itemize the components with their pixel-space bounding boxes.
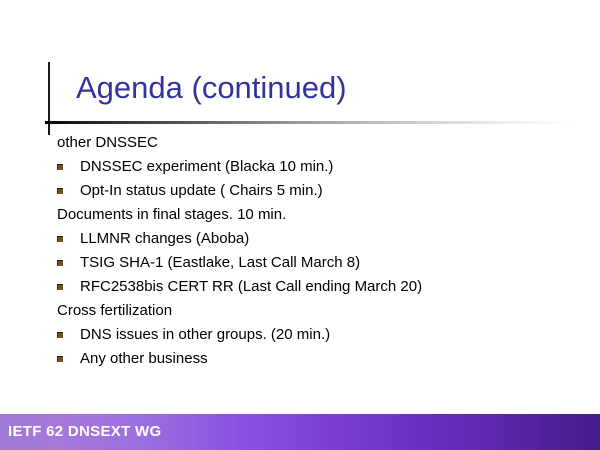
square-bullet-icon xyxy=(57,164,63,170)
list-item: Cross fertilization xyxy=(0,299,600,323)
list-item: DNSSEC experiment (Blacka 10 min.) xyxy=(0,155,600,179)
list-item-label: DNS issues in other groups. (20 min.) xyxy=(80,326,330,343)
title-vertical-rule xyxy=(48,62,50,135)
list-item-label: other DNSSEC xyxy=(57,134,158,151)
title-horizontal-rule xyxy=(45,121,575,124)
list-item: RFC2538bis CERT RR (Last Call ending Mar… xyxy=(0,275,600,299)
footer-bar: IETF 62 DNSEXT WG xyxy=(0,414,600,450)
square-bullet-icon xyxy=(57,188,63,194)
list-item: DNS issues in other groups. (20 min.) xyxy=(0,323,600,347)
list-item: TSIG SHA-1 (Eastlake, Last Call March 8) xyxy=(0,251,600,275)
list-item: Documents in final stages. 10 min. xyxy=(0,203,600,227)
agenda-list: other DNSSECDNSSEC experiment (Blacka 10… xyxy=(0,131,600,371)
list-item-label: RFC2538bis CERT RR (Last Call ending Mar… xyxy=(80,278,422,295)
footer-label: IETF 62 DNSEXT WG xyxy=(8,423,161,440)
square-bullet-icon xyxy=(57,236,63,242)
list-item-label: TSIG SHA-1 (Eastlake, Last Call March 8) xyxy=(80,254,360,271)
list-item-label: Documents in final stages. 10 min. xyxy=(57,206,286,223)
list-item-label: Opt-In status update ( Chairs 5 min.) xyxy=(80,182,323,199)
square-bullet-icon xyxy=(57,284,63,290)
page-title: Agenda (continued) xyxy=(76,68,347,108)
square-bullet-icon xyxy=(57,332,63,338)
list-item: other DNSSEC xyxy=(0,131,600,155)
square-bullet-icon xyxy=(57,356,63,362)
list-item-label: DNSSEC experiment (Blacka 10 min.) xyxy=(80,158,333,175)
list-item-label: Cross fertilization xyxy=(57,302,172,319)
title-block: Agenda (continued) xyxy=(0,0,600,136)
slide-canvas: Agenda (continued) other DNSSECDNSSEC ex… xyxy=(0,0,600,450)
square-bullet-icon xyxy=(57,260,63,266)
list-item-label: LLMNR changes (Aboba) xyxy=(80,230,249,247)
list-item: Any other business xyxy=(0,347,600,371)
list-item-label: Any other business xyxy=(80,350,208,367)
list-item: LLMNR changes (Aboba) xyxy=(0,227,600,251)
list-item: Opt-In status update ( Chairs 5 min.) xyxy=(0,179,600,203)
